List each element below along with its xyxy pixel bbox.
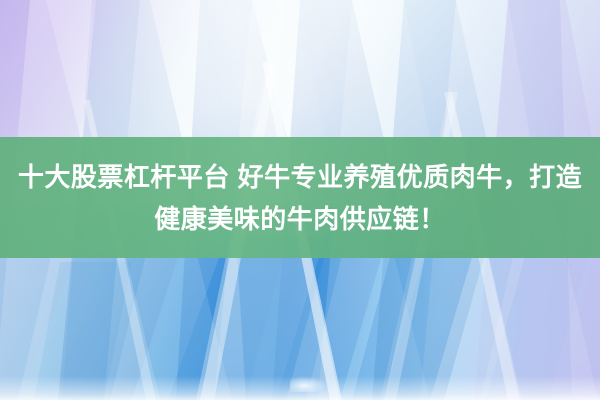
caption-line-1: 十大股票杠杆平台 好牛专业养殖优质肉牛，打造 bbox=[18, 156, 582, 198]
caption-line-2: 健康美味的牛肉供应链！ bbox=[154, 198, 446, 240]
promotional-banner: 十大股票杠杆平台 好牛专业养殖优质肉牛，打造 健康美味的牛肉供应链！ bbox=[0, 0, 600, 400]
watermark-artifact bbox=[290, 376, 326, 392]
caption-band: 十大股票杠杆平台 好牛专业养殖优质肉牛，打造 健康美味的牛肉供应链！ bbox=[0, 137, 600, 258]
